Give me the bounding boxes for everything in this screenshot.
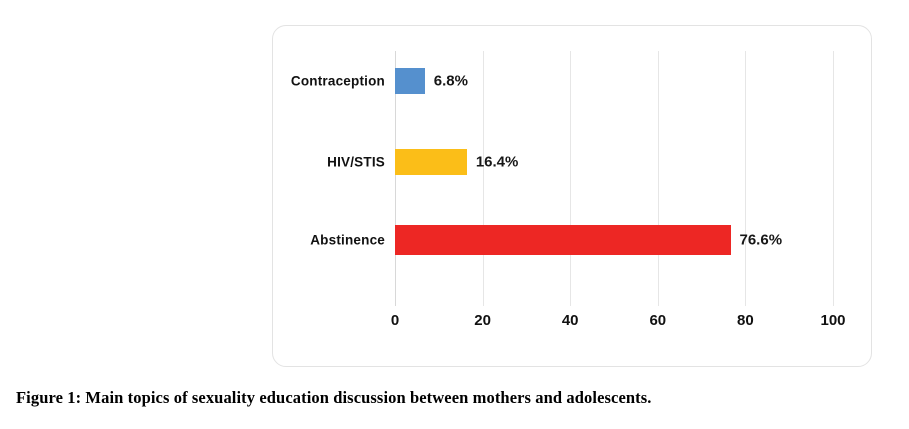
bar-abstinence[interactable] (395, 225, 731, 255)
bar-value-hiv-stis: 16.4% (476, 154, 519, 171)
x-tick-label: 0 (391, 312, 399, 329)
x-tick-label: 40 (562, 312, 579, 329)
category-label-abstinence: Abstinence (310, 233, 393, 248)
bar-row[interactable]: Contraception 6.8% (273, 61, 871, 101)
bar-contraception[interactable] (395, 68, 425, 94)
category-label-contraception: Contraception (291, 74, 393, 89)
x-tick-label: 100 (820, 312, 845, 329)
figure-card: Contraception 6.8% HIV/STIS 16.4% Abstin… (272, 25, 872, 367)
x-tick-label: 80 (737, 312, 754, 329)
x-tick-label: 20 (474, 312, 491, 329)
bar-row[interactable]: HIV/STIS 16.4% (273, 142, 871, 182)
bar-chart: Contraception 6.8% HIV/STIS 16.4% Abstin… (273, 26, 871, 366)
bar-value-contraception: 6.8% (434, 73, 468, 90)
bar-hiv-stis[interactable] (395, 149, 467, 175)
x-tick-label: 60 (649, 312, 666, 329)
figure-caption: Figure 1: Main topics of sexuality educa… (16, 388, 896, 408)
bar-value-abstinence: 76.6% (740, 232, 783, 249)
bar-row[interactable]: Abstinence 76.6% (273, 220, 871, 260)
category-label-hiv-stis: HIV/STIS (327, 155, 393, 170)
